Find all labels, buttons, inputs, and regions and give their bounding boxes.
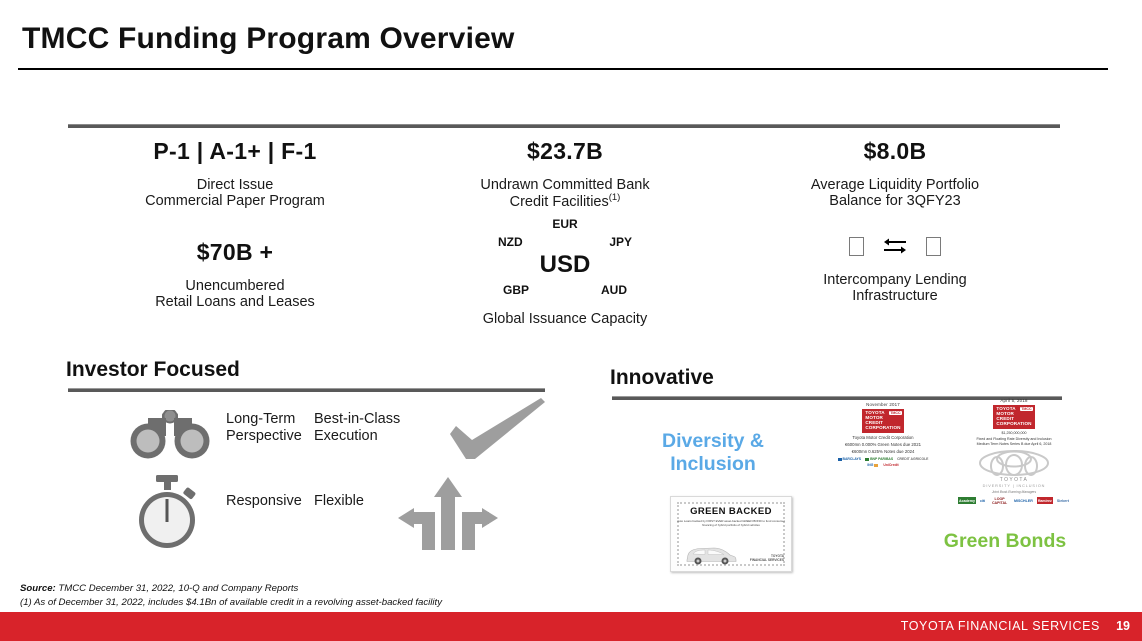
bank-logo: Academy xyxy=(958,497,976,504)
tombstone1-tranche1: €600mn 0.000% Green Notes due 2021 xyxy=(833,442,933,449)
currency-usd: USD xyxy=(540,251,591,279)
page-number: 19 xyxy=(1116,619,1130,633)
top-column-bank-facilities: $23.7B Undrawn Committed Bank Credit Fac… xyxy=(450,138,680,327)
bank-sub-line1: Undrawn Committed Bank xyxy=(450,177,680,193)
investor-focused-body: Long-Term Perspective Best-in-Class Exec… xyxy=(66,400,556,560)
certificate-logo-line2: FINANCIAL SERVICES xyxy=(750,558,784,562)
certificate-logo: TOYOTA FINANCIAL SERVICES xyxy=(750,554,784,562)
cp-ratings-subtitle: Direct Issue Commercial Paper Program xyxy=(95,177,375,210)
bank-name: citi xyxy=(980,499,985,503)
tmcc2-line4: CORPORATION xyxy=(996,422,1031,427)
liquidity-stat: $8.0B xyxy=(780,138,1010,165)
bank-name: MISCHLER xyxy=(1014,499,1033,503)
top-column-liquidity: $8.0B Average Liquidity Portfolio Balanc… xyxy=(780,138,1010,305)
three-way-arrows-icon xyxy=(396,472,500,550)
cp-sub-line1: Direct Issue xyxy=(95,177,375,193)
tombstone2-banks: Academy citi LOOP CAPITAL MISCHLER Ramir… xyxy=(958,497,1070,504)
long-term-line1: Long-Term xyxy=(226,411,316,428)
unencumbered-stat: $70B + xyxy=(95,239,375,266)
top-section-divider xyxy=(68,124,1060,128)
tmcc-logo-1: TOYOTA MOTOR CREDIT CORPORATION TMCC xyxy=(862,409,903,433)
checkmark-icon xyxy=(448,396,548,464)
bank-facilities-stat: $23.7B xyxy=(450,138,680,165)
tombstone1-tranche2: €600mn 0.625% Notes due 2024 xyxy=(833,449,933,456)
liquidity-subtitle: Average Liquidity Portfolio Balance for … xyxy=(780,177,1010,210)
footer-brand: TOYOTA FINANCIAL SERVICES xyxy=(901,619,1100,633)
currency-eur: EUR xyxy=(552,217,577,231)
bank-name: LOOP CAPITAL xyxy=(990,497,1009,505)
long-term-line2: Perspective xyxy=(226,428,316,445)
tombstone1-banks: BARCLAYS BNP PARIBAS CREDIT AGRICOLE ING… xyxy=(833,457,933,467)
bidirectional-arrow-icon xyxy=(882,237,908,257)
source-text: TMCC December 31, 2022, 10-Q and Company… xyxy=(56,583,299,594)
joint-bookrunners-label: Joint Book-Running Managers xyxy=(958,490,1070,494)
page-title: TMCC Funding Program Overview xyxy=(22,22,515,56)
tombstone2-date: April 5, 2018 xyxy=(958,398,1070,403)
tombstone2-desc-line2: Medium Term Notes Series B due April 6, … xyxy=(958,442,1070,448)
bank-name: Academy xyxy=(959,499,975,503)
currency-nzd: NZD xyxy=(498,235,523,249)
binoculars-icon xyxy=(126,410,214,462)
bank-logo: Ramirez xyxy=(1037,497,1053,504)
source-note: Source: TMCC December 31, 2022, 10-Q and… xyxy=(20,582,442,609)
best-in-class-line2: Execution xyxy=(314,428,424,445)
bank-sub-line2: Credit Facilities xyxy=(510,194,609,210)
intercompany-caption-line1: Intercompany Lending xyxy=(780,272,1010,288)
bank-logo: CREDIT AGRICOLE xyxy=(897,457,928,461)
bank-logo: BARCLAYS xyxy=(838,457,862,461)
cp-sub-line2: Commercial Paper Program xyxy=(95,193,375,209)
intercompany-caption: Intercompany Lending Infrastructure xyxy=(780,272,1010,305)
bank-name: UniCredit xyxy=(883,463,898,467)
bank-logo: UniCredit xyxy=(883,463,898,467)
green-bonds-label: Green Bonds xyxy=(930,530,1080,553)
bank-name: Siebert xyxy=(1057,499,1069,503)
source-label: Source: xyxy=(20,583,56,594)
bank-logo: LOOP CAPITAL xyxy=(989,497,1010,504)
currency-cluster: EUR NZD JPY USD GBP AUD xyxy=(450,217,680,299)
diversity-inclusion-brand-sub: DIVERSITY | INCLUSION xyxy=(958,484,1070,488)
diversity-inclusion-label: Diversity & Inclusion xyxy=(618,430,808,476)
bank-logo: ING xyxy=(867,463,879,467)
unencumbered-sub-line2: Retail Loans and Leases xyxy=(95,294,375,310)
footnote-marker: (1) xyxy=(609,192,621,203)
certificate-subtitle: Auto Loans backed by FIRST EVER asset-ba… xyxy=(675,519,787,528)
toyota-brand-word: TOYOTA xyxy=(958,477,1070,483)
currency-aud: AUD xyxy=(601,283,627,297)
label-long-term-perspective: Long-Term Perspective xyxy=(226,411,316,444)
toyota-ellipses-icon xyxy=(978,450,1050,476)
stopwatch-icon xyxy=(129,475,207,551)
bank-logo: Siebert xyxy=(1056,497,1070,504)
label-best-in-class-execution: Best-in-Class Execution xyxy=(314,411,424,444)
bank-name: Ramirez xyxy=(1038,499,1052,503)
tmcc1-line4: CORPORATION xyxy=(865,426,900,431)
currency-gbp: GBP xyxy=(503,283,529,297)
tombstone-diversity-inclusion: April 5, 2018 TOYOTA MOTOR CREDIT CORPOR… xyxy=(958,398,1070,504)
tmcc-logo-2: TOYOTA MOTOR CREDIT CORPORATION TMCC xyxy=(993,405,1034,429)
tmcc2-badge: TMCC xyxy=(1020,407,1032,411)
bank-logo: MISCHLER xyxy=(1013,497,1034,504)
intercompany-caption-line2: Infrastructure xyxy=(780,288,1010,304)
entity-box-right-icon xyxy=(926,237,941,256)
tmcc1-badge: TMCC xyxy=(889,411,901,415)
slide: TMCC Funding Program Overview P-1 | A-1+… xyxy=(0,0,1142,641)
top-column-commercial-paper: P-1 | A-1+ | F-1 Direct Issue Commercial… xyxy=(95,138,375,311)
bank-logo: BNP PARIBAS xyxy=(865,457,893,461)
global-issuance-caption: Global Issuance Capacity xyxy=(450,311,680,327)
liquidity-sub-line2: Balance for 3QFY23 xyxy=(780,193,1010,209)
tombstone-green-notes: November 2017 TOYOTA MOTOR CREDIT CORPOR… xyxy=(833,402,933,467)
unencumbered-block: $70B + Unencumbered Retail Loans and Lea… xyxy=(95,239,375,311)
bank-name: ING xyxy=(867,463,873,467)
bank-logo: citi xyxy=(979,497,986,504)
green-backed-certificate-image: GREEN BACKED Auto Loans backed by FIRST … xyxy=(670,496,792,572)
footnote-line: (1) As of December 31, 2022, includes $4… xyxy=(20,596,442,610)
bank-sub-line2-wrap: Credit Facilities(1) xyxy=(450,193,680,210)
liquidity-sub-line1: Average Liquidity Portfolio xyxy=(780,177,1010,193)
bank-facilities-subtitle: Undrawn Committed Bank Credit Facilities… xyxy=(450,177,680,211)
investor-focused-heading: Investor Focused xyxy=(66,358,240,382)
innovative-heading: Innovative xyxy=(610,366,714,390)
best-in-class-line1: Best-in-Class xyxy=(314,411,424,428)
investor-focused-divider xyxy=(68,388,545,392)
bank-name: CREDIT AGRICOLE xyxy=(897,457,928,461)
toyota-diversity-brand: TOYOTA DIVERSITY | INCLUSION Joint Book-… xyxy=(958,450,1070,494)
entity-box-left-icon xyxy=(849,237,864,256)
car-illustration xyxy=(685,543,737,565)
bank-name: BNP PARIBAS xyxy=(870,457,893,461)
header-divider xyxy=(18,68,1108,70)
source-line: Source: TMCC December 31, 2022, 10-Q and… xyxy=(20,582,442,596)
cp-ratings-stat: P-1 | A-1+ | F-1 xyxy=(95,138,375,165)
tombstone1-date: November 2017 xyxy=(833,402,933,407)
unencumbered-subtitle: Unencumbered Retail Loans and Leases xyxy=(95,278,375,311)
bank-name: BARCLAYS xyxy=(843,457,862,461)
footer-bar: TOYOTA FINANCIAL SERVICES 19 xyxy=(0,612,1142,641)
certificate-title: GREEN BACKED xyxy=(671,506,791,517)
intercompany-lending-icons xyxy=(780,234,1010,260)
label-responsive: Responsive xyxy=(226,493,316,510)
unencumbered-sub-line1: Unencumbered xyxy=(95,278,375,294)
tombstone1-issuer: Toyota Motor Credit Corporation xyxy=(833,435,933,442)
currency-jpy: JPY xyxy=(609,235,632,249)
